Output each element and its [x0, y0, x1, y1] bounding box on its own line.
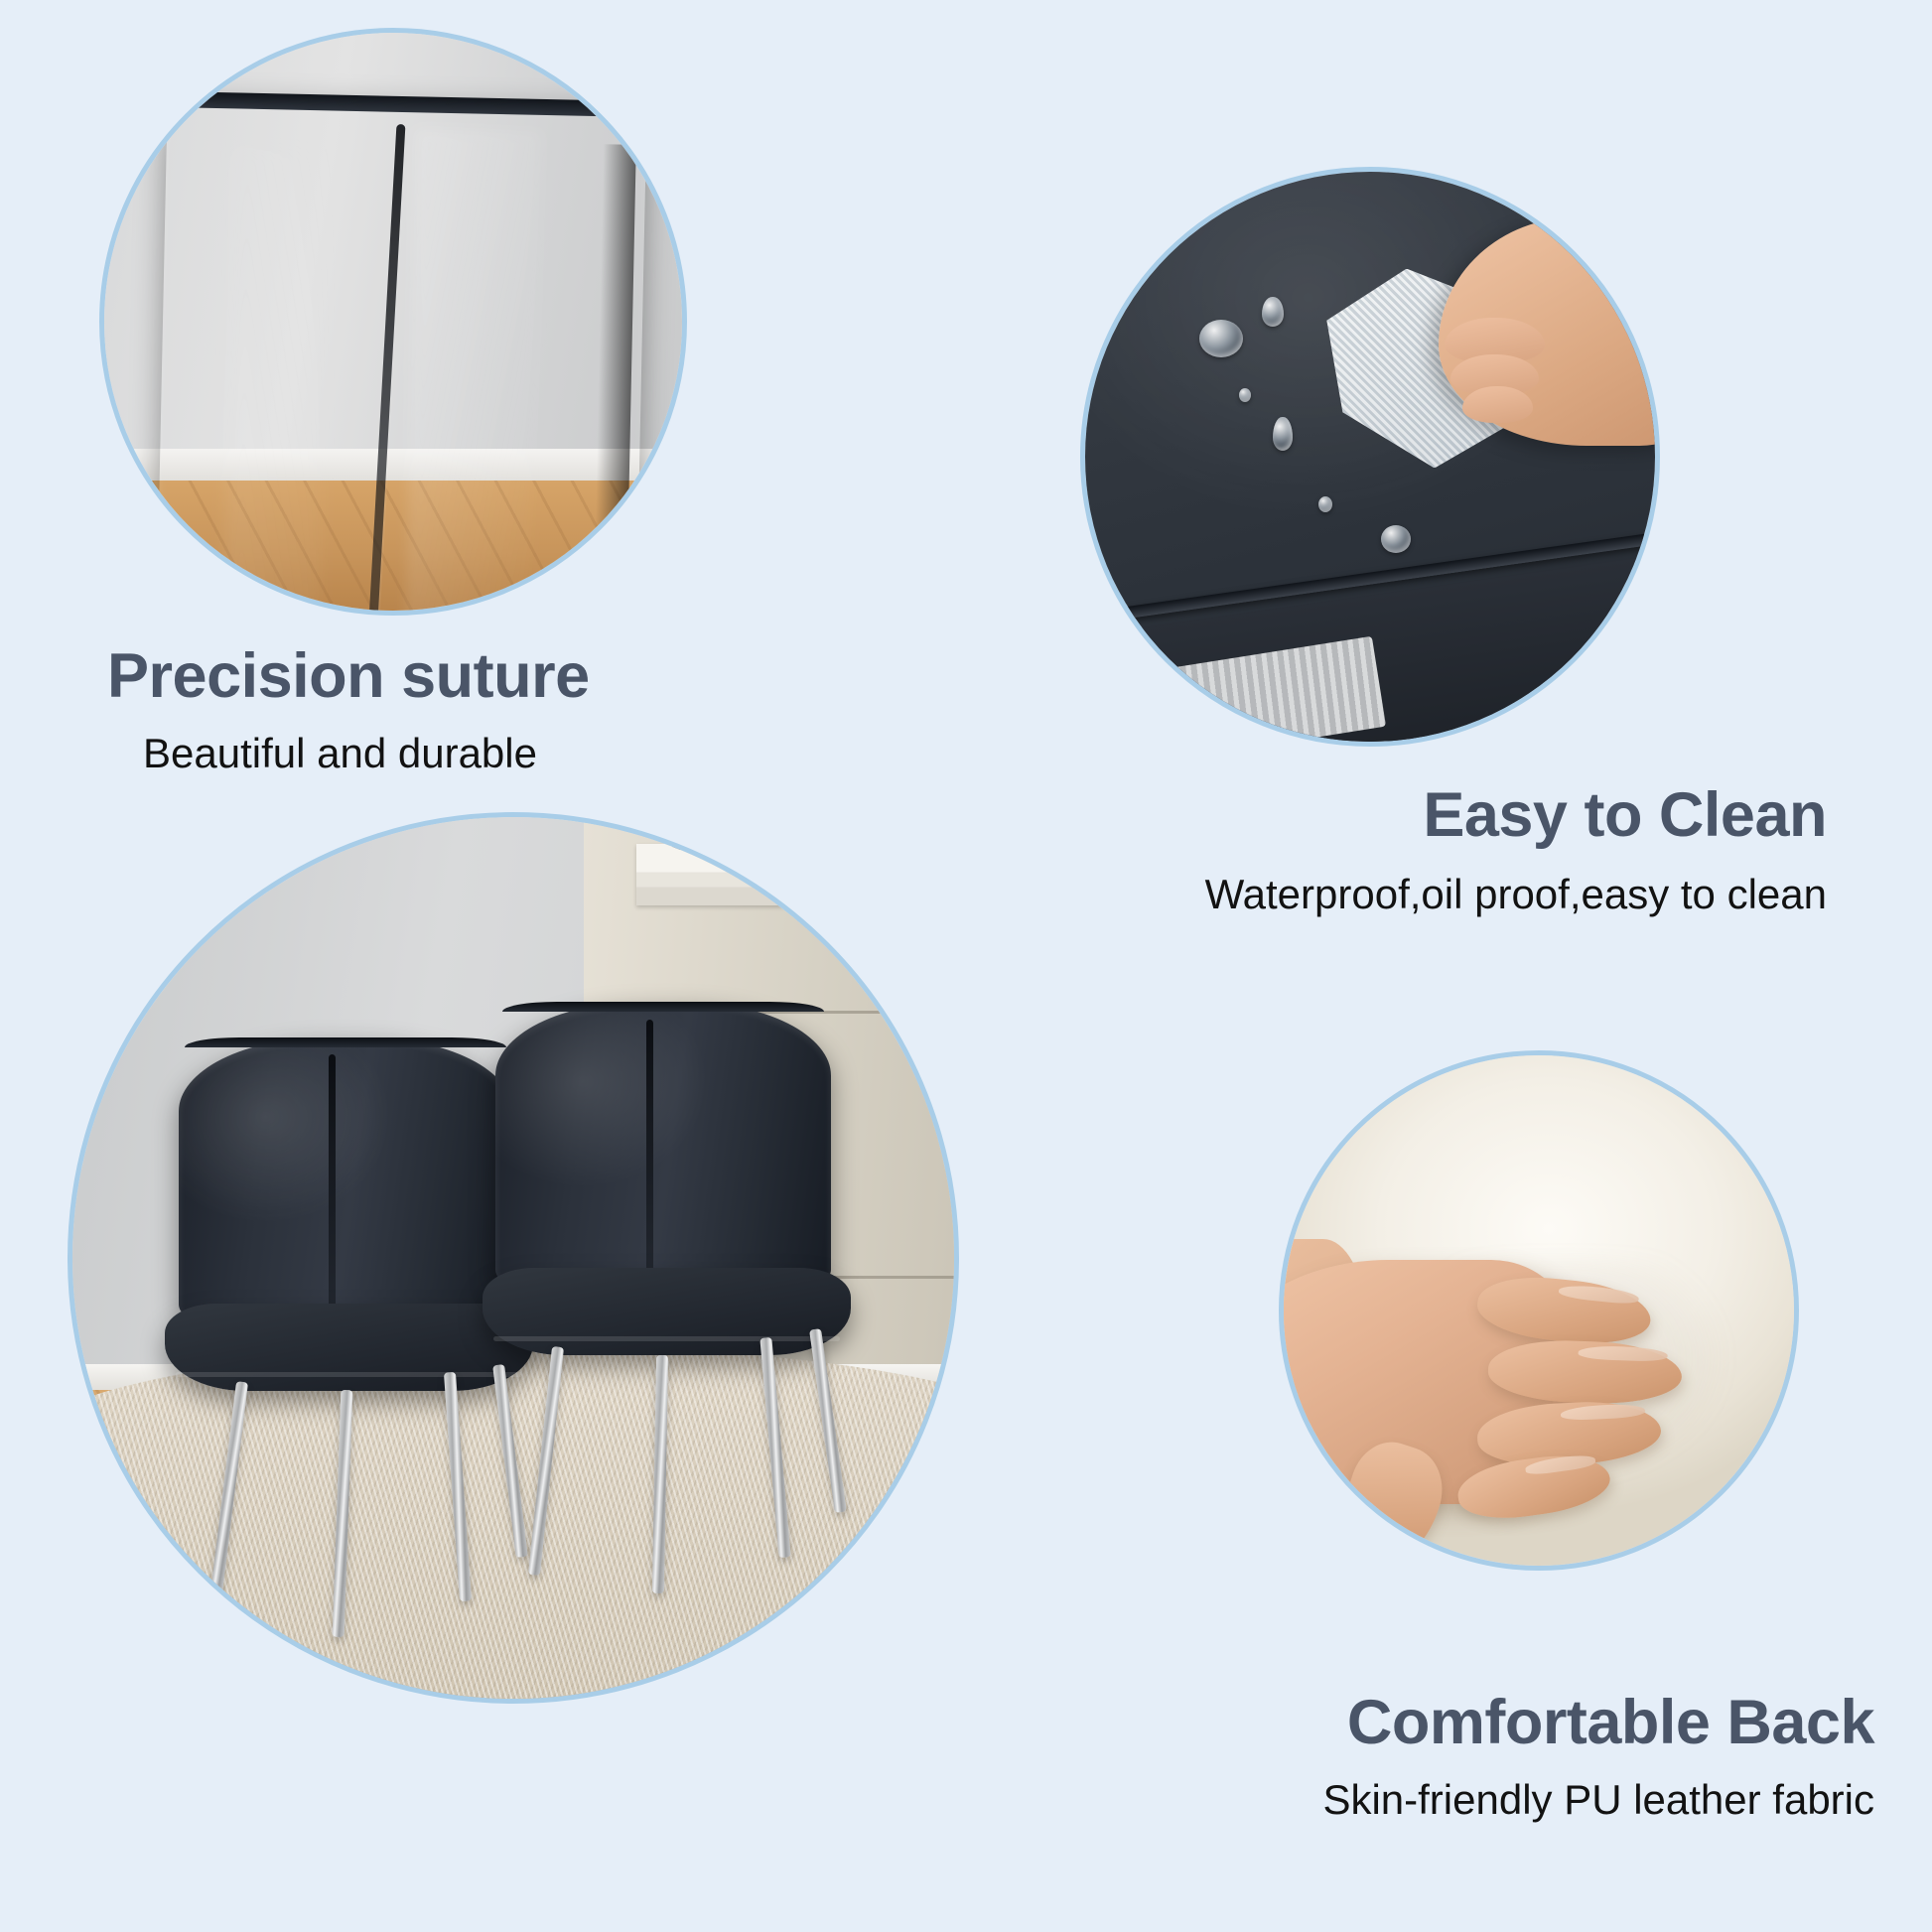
- subtitle-easy-to-clean: Waterproof,oil proof,easy to clean: [1205, 870, 1827, 919]
- leather-sheen-left: [224, 148, 331, 611]
- headline-comfortable-back: Comfortable Back: [1322, 1690, 1874, 1755]
- backrest-shadow-edge: [593, 144, 636, 611]
- fingernail: [1561, 1402, 1646, 1421]
- center-stitch-seam: [646, 1020, 653, 1281]
- leather-sheen-right: [406, 129, 541, 611]
- book-stack: [636, 844, 848, 905]
- fingernail: [1359, 1522, 1415, 1559]
- waterproof-wipe-photo: [1085, 172, 1655, 742]
- water-droplet: [1262, 297, 1284, 327]
- feature-photo-precision-suture: [99, 28, 687, 616]
- chair-seat: [483, 1268, 851, 1355]
- water-droplet: [1199, 320, 1243, 357]
- chair-backrest: [156, 91, 647, 611]
- feature-text-easy-to-clean: Easy to Clean Waterproof,oil proof,easy …: [1205, 782, 1827, 920]
- feature-photo-comfortable-back: [1279, 1050, 1799, 1571]
- subtitle-comfortable-back: Skin-friendly PU leather fabric: [1322, 1775, 1874, 1825]
- chair-backrest: [495, 1002, 830, 1286]
- feature-photo-chairs-in-room: [68, 812, 959, 1704]
- feature-text-precision-suture: Precision suture Beautiful and durable: [107, 643, 590, 779]
- living-room-photo: [72, 817, 954, 1699]
- finger: [1462, 386, 1534, 423]
- headline-precision-suture: Precision suture: [107, 643, 590, 709]
- feature-text-comfortable-back: Comfortable Back Skin-friendly PU leathe…: [1322, 1690, 1874, 1826]
- infographic-canvas: Precision suture Beautiful and durable E…: [0, 0, 1932, 1932]
- foam-press-photo: [1284, 1055, 1794, 1566]
- feature-photo-easy-to-clean: [1080, 167, 1660, 747]
- leather-backrest-photo: [104, 33, 682, 611]
- chair-seat: [165, 1304, 533, 1391]
- chair-backrest: [179, 1037, 513, 1321]
- headline-easy-to-clean: Easy to Clean: [1205, 782, 1827, 848]
- water-droplet: [1239, 388, 1251, 402]
- subtitle-precision-suture: Beautiful and durable: [143, 729, 590, 778]
- center-stitch-seam: [329, 1054, 336, 1315]
- center-stitch-seam: [367, 124, 406, 611]
